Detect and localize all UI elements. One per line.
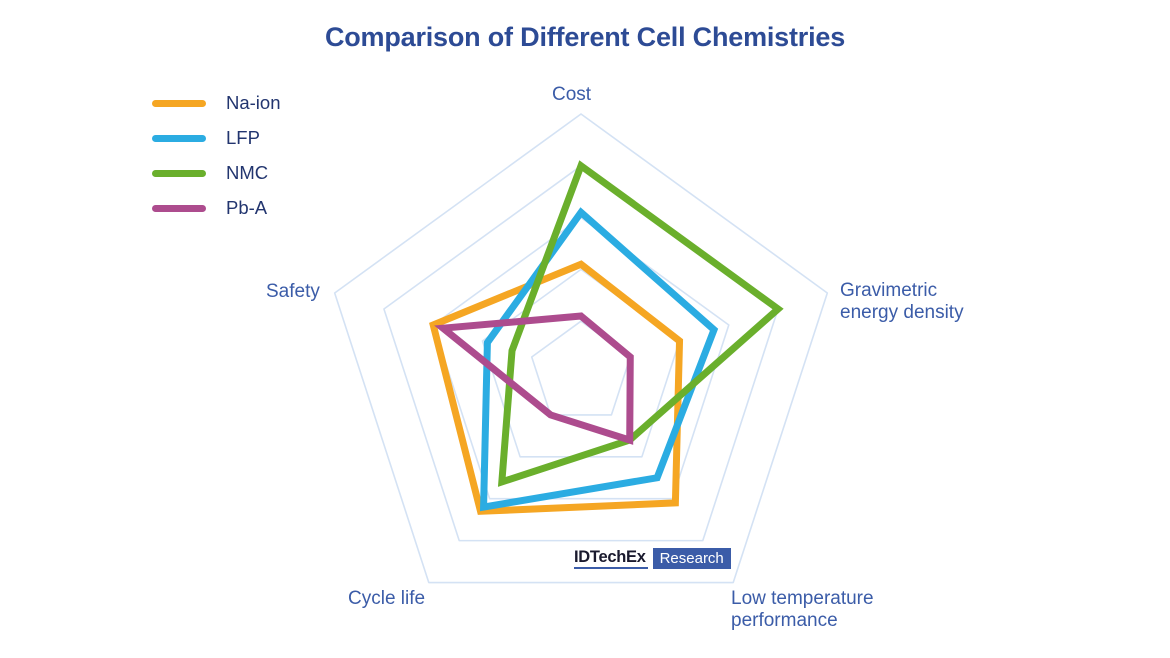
axis-label-cost: Cost: [552, 84, 591, 106]
watermark-brand-name: IDTechEx: [574, 548, 648, 569]
watermark-research-badge: Research: [653, 548, 731, 569]
radar-series-na-ion[interactable]: [433, 264, 679, 511]
grid-ring-1: [532, 321, 631, 415]
axis-label-safety: Safety: [266, 281, 320, 303]
radar-series-pb-a[interactable]: [443, 316, 630, 440]
idtechex-watermark: IDTechEx Research: [574, 548, 731, 569]
axis-label-gravimetric: Gravimetric energy density: [840, 280, 964, 324]
axis-label-low-temperature-performance: Low temperature performance: [731, 588, 874, 632]
grid-ring-5: [335, 114, 828, 583]
axis-label-cycle-life: Cycle life: [348, 588, 425, 610]
radar-gridlines: [335, 114, 828, 583]
